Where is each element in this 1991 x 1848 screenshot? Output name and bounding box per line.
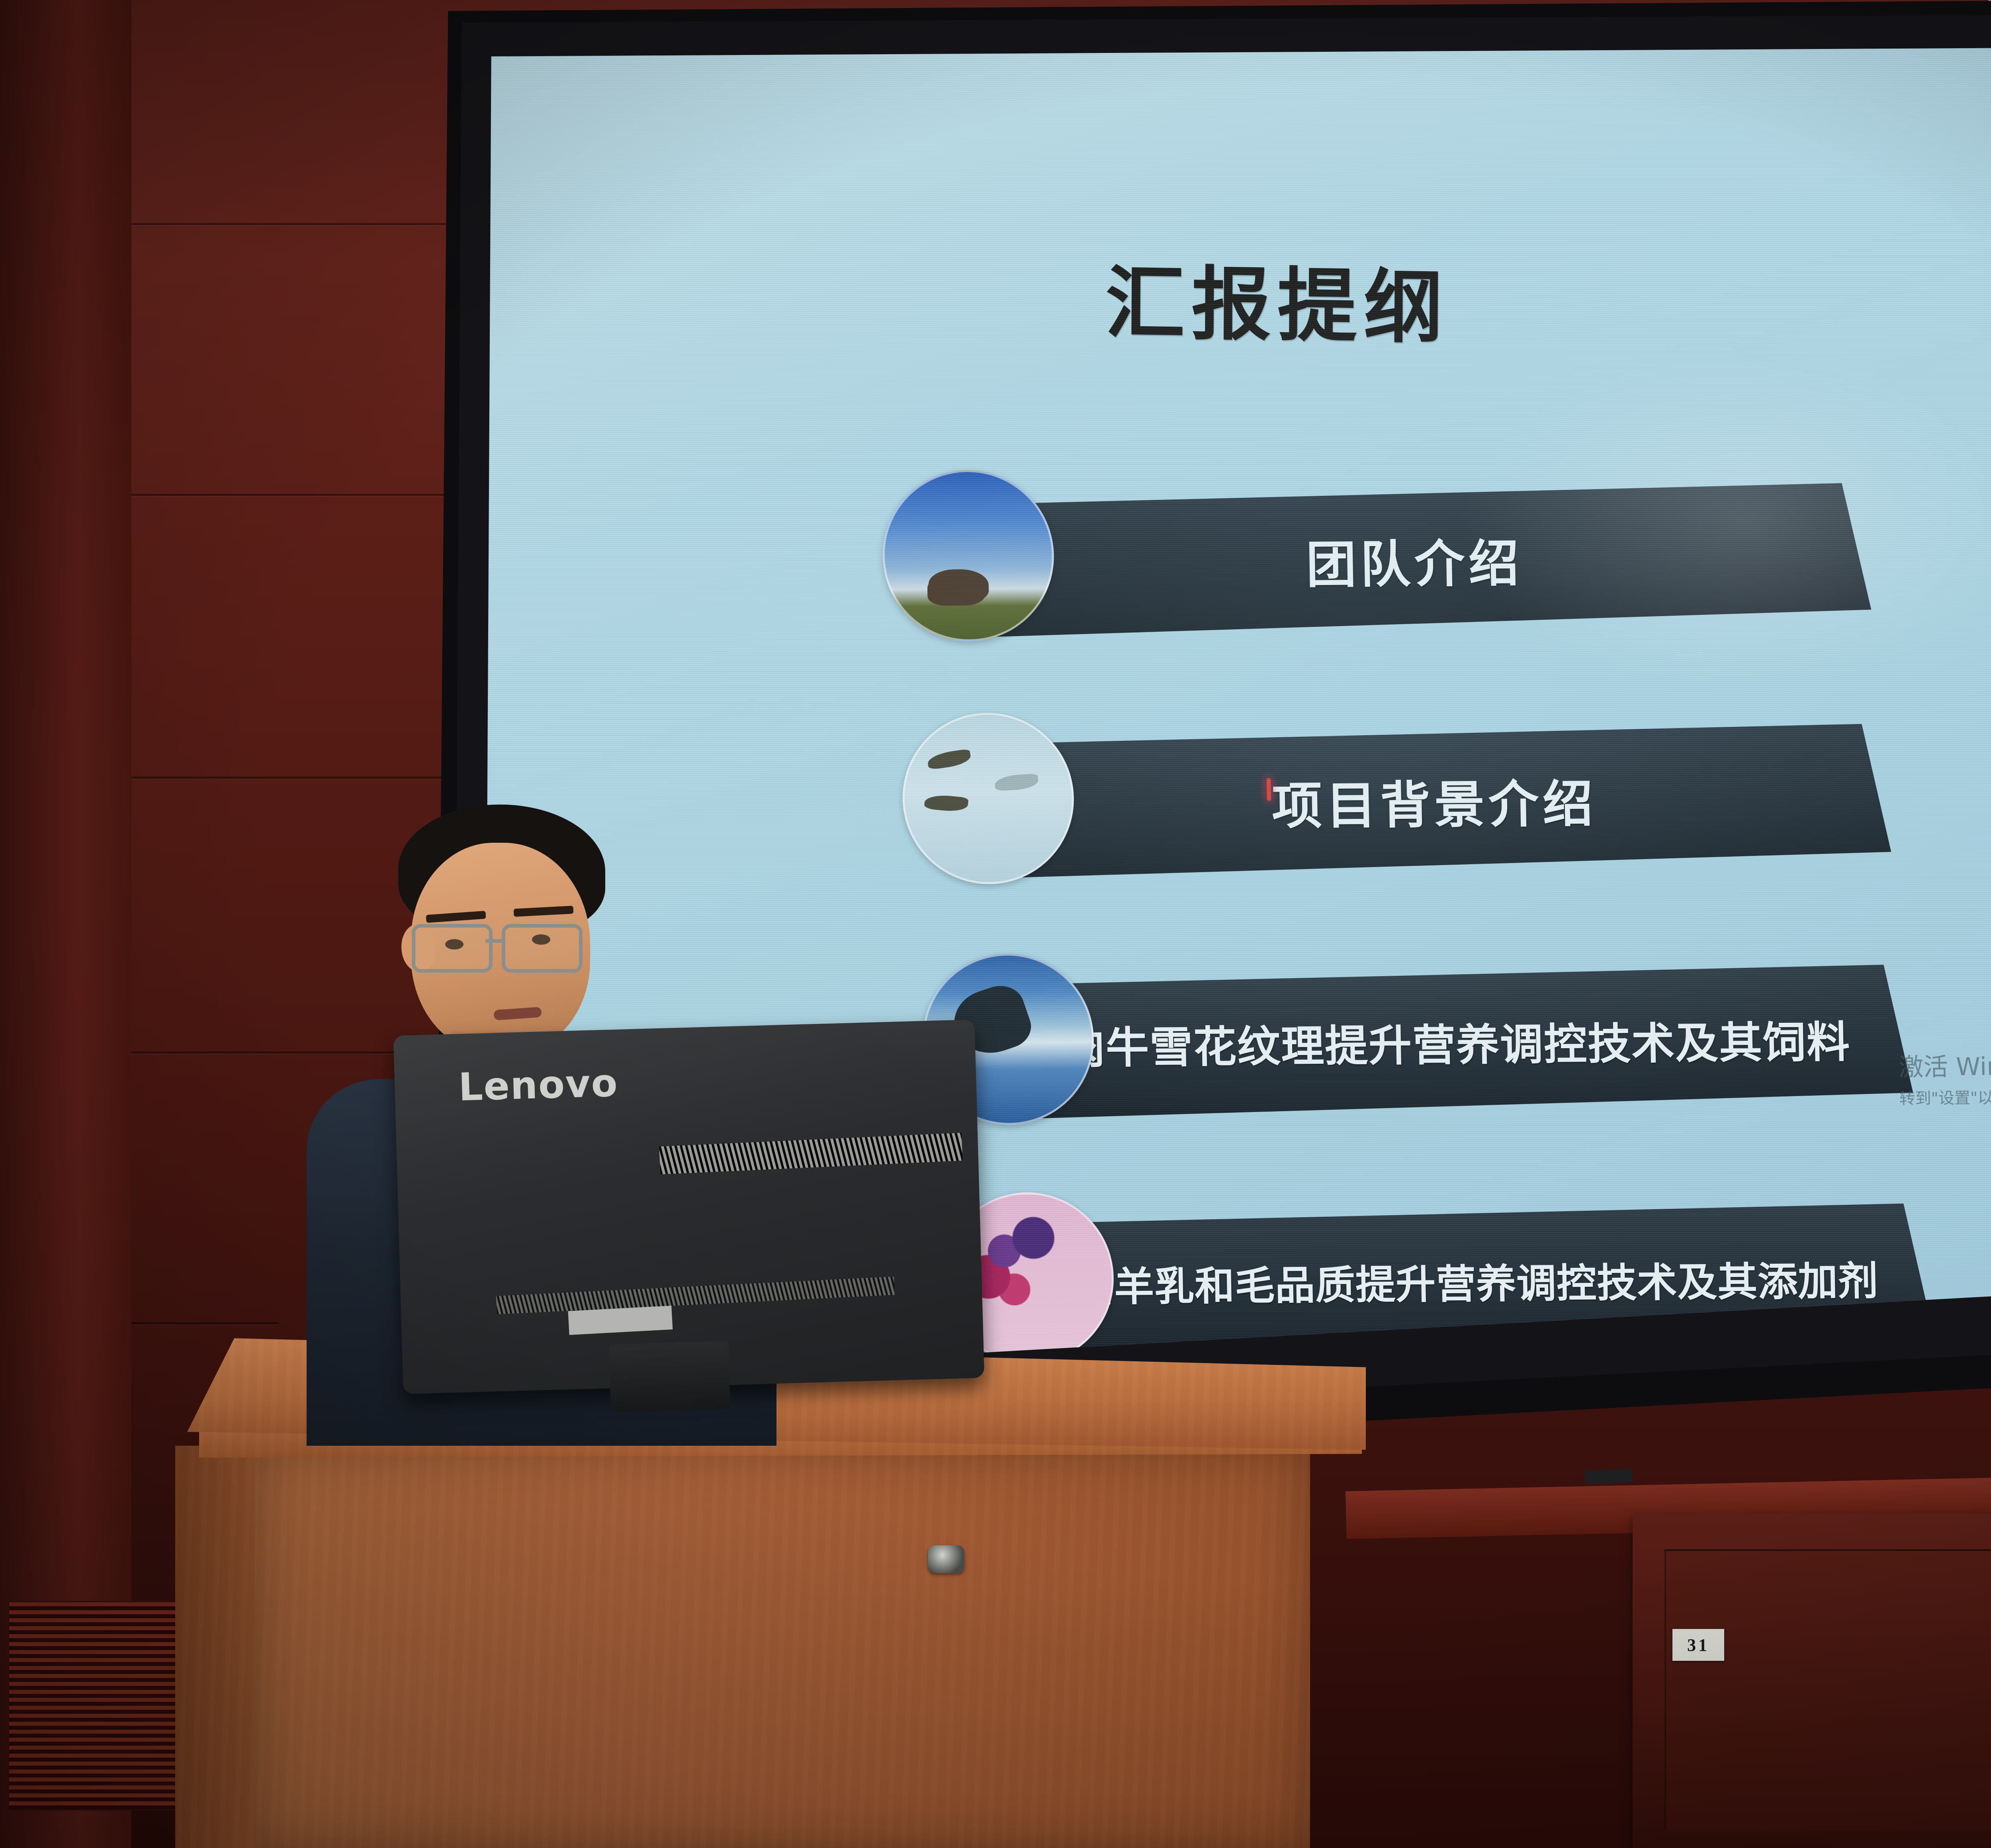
watermark-line-2: 转到"设置"以激活 Windows [1899,1085,1991,1111]
lenovo-monitor[interactable]: Lenovo [393,1020,985,1394]
podium-lock-icon[interactable] [928,1545,964,1573]
outline-label-1: 团队介绍 [958,520,1871,600]
desk-front-panel [1664,1549,1991,1831]
windows-activation-watermark: 激活 Windows 转到"设置"以激活 Windows [1898,1047,1991,1111]
outline-bar-3[interactable]: 肉牛雪花纹理提升营养调控技术及其饲料 [999,965,1913,1119]
left-wall [0,0,131,1848]
glasses-left-lens [412,924,493,973]
seat-number-badge: 31 [1672,1629,1724,1661]
outline-label-3: 肉牛雪花纹理提升营养调控技术及其饲料 [1000,1007,1913,1077]
screenshot-root: 汇报提纲 团队介绍 项目背景介绍 [0,0,1991,1848]
watermark-line-1: 激活 Windows [1898,1047,1991,1086]
outline-bar-2[interactable]: 项目背景介绍 [977,724,1891,878]
monitor-stand [609,1341,731,1412]
presenter-glasses-icon [409,924,593,968]
outline-label-2: 项目背景介绍 [978,761,1891,841]
glasses-right-lens [502,924,583,973]
podium-side [175,1446,263,1848]
laser-pointer-dot [1267,778,1271,801]
glasses-bridge [485,939,503,943]
monitor-brand-label: Lenovo [458,1061,619,1110]
outline-label-4: 山羊乳和毛品质提升营养调控技术及其添加剂 [1020,1248,1932,1313]
microphone-base [1584,1469,1633,1484]
outline-thumb-2 [901,712,1075,885]
outline-bar-1[interactable]: 团队介绍 [957,483,1872,637]
podium-body[interactable] [255,1450,1310,1848]
outline-thumb-1 [881,470,1055,642]
